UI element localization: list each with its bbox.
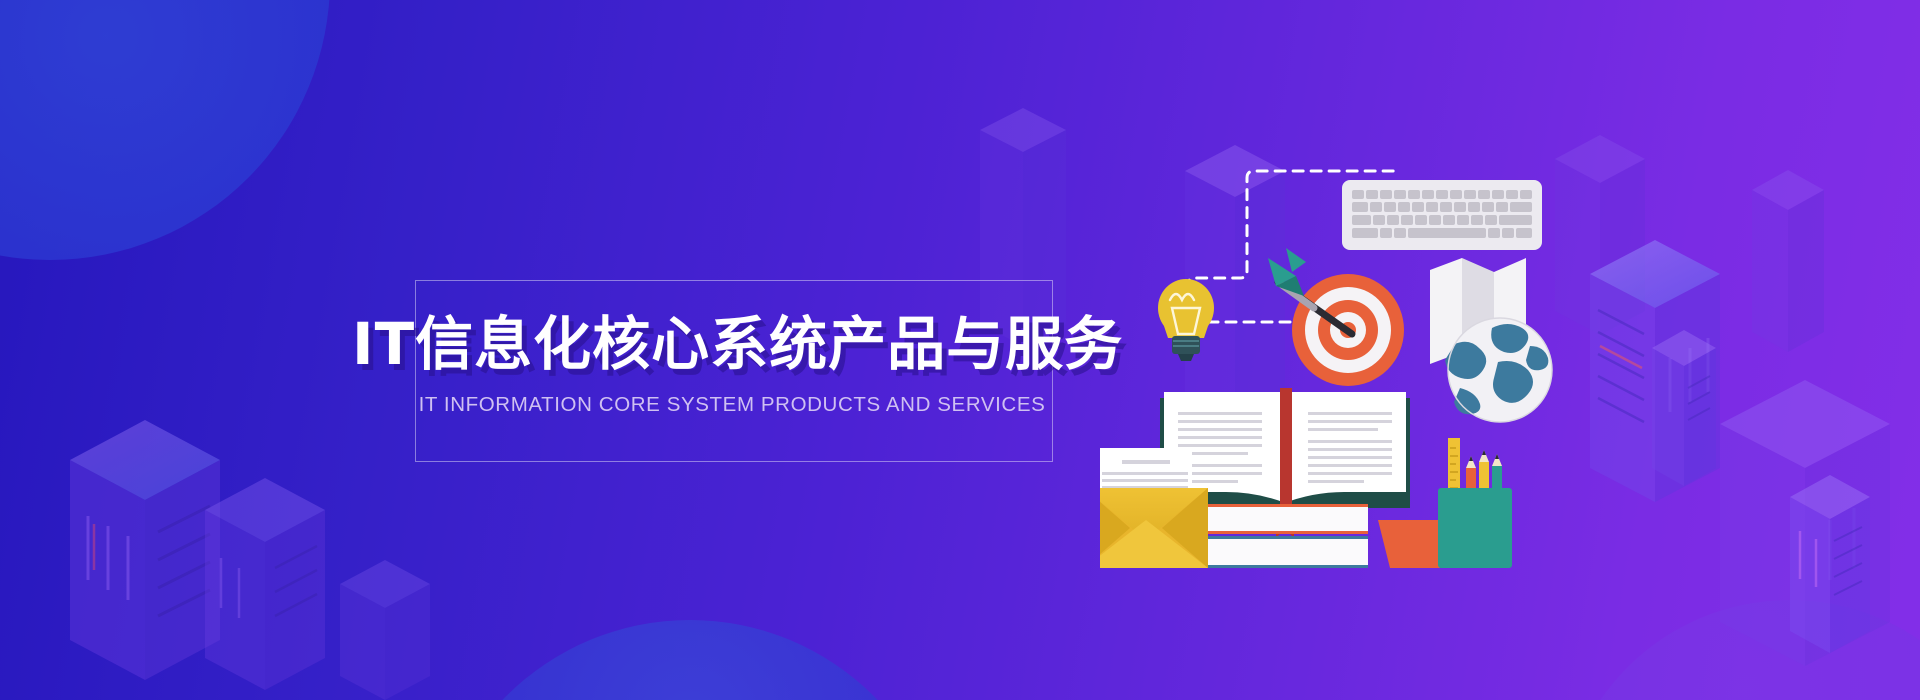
page-title: IT信息化核心系统产品与服务 [352,315,1112,373]
isometric-building-right-5 [1720,380,1890,700]
isometric-building-right-3 [1752,170,1824,370]
isometric-building-right-4 [1652,330,1716,510]
pencil-holder-icon [1438,438,1512,568]
envelope-icon [1100,488,1208,568]
circle-bottom-right [1560,600,1920,700]
isometric-building-left-2 [205,478,325,700]
keyboard-icon [1342,180,1542,250]
isometric-building-right-2 [1590,240,1720,540]
target-with-arrow-icon [1268,248,1404,386]
lightbulb-icon [1158,279,1214,361]
circle-top-left [0,0,330,260]
isometric-building-right-6 [1790,475,1870,675]
headline-block: IT信息化核心系统产品与服务 IT INFORMATION CORE SYSTE… [352,315,1112,417]
isometric-building-right-1 [1555,135,1645,355]
it-office-desk-illustration [1100,130,1560,570]
circle-bottom-center [430,620,950,700]
isometric-building-left-1 [70,420,220,700]
hero-banner: IT信息化核心系统产品与服务 IT INFORMATION CORE SYSTE… [0,0,1920,700]
isometric-building-left-3 [340,560,430,700]
page-subtitle: IT INFORMATION CORE SYSTEM PRODUCTS AND … [352,393,1112,417]
